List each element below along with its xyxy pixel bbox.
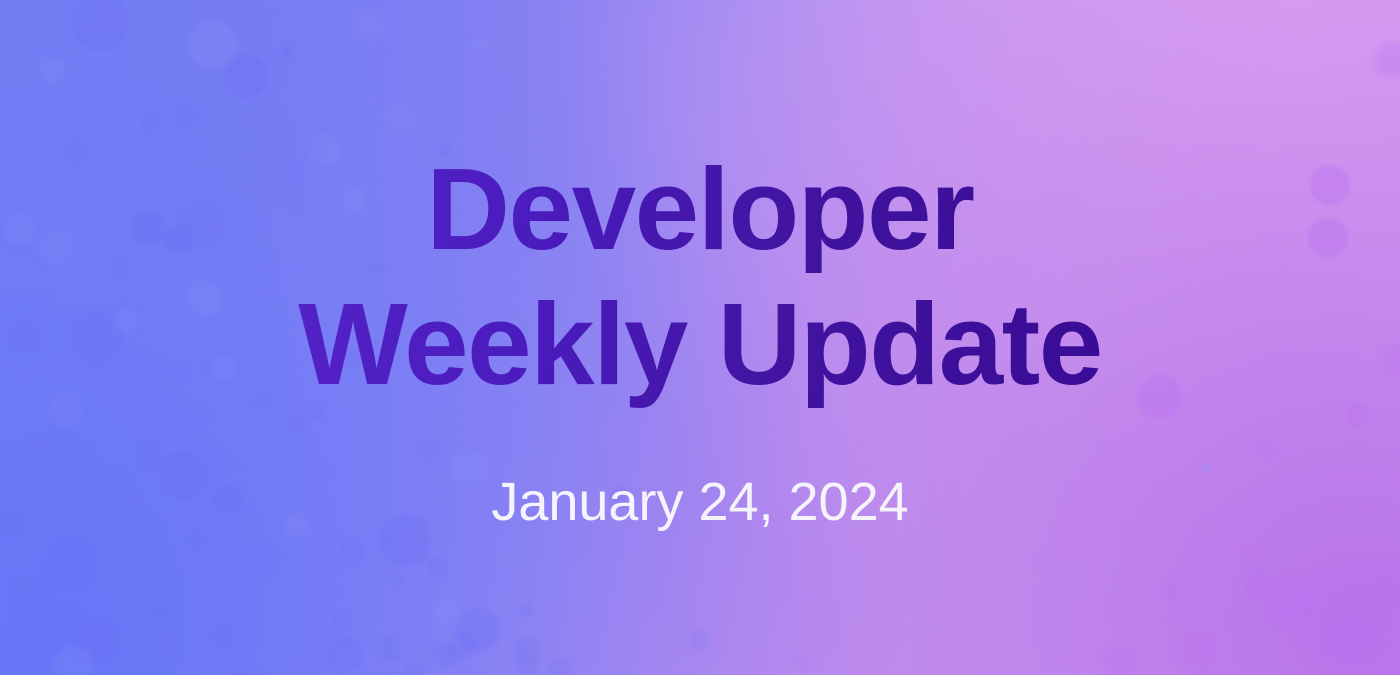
page-title: Developer Weekly Update — [298, 142, 1102, 417]
title-slide: Developer Weekly Update January 24, 2024 — [0, 0, 1400, 675]
slide-content: Developer Weekly Update January 24, 2024 — [0, 0, 1400, 675]
slide-date: January 24, 2024 — [491, 471, 908, 533]
title-line-2: Weekly Update — [298, 277, 1102, 412]
title-line-1: Developer — [298, 142, 1102, 277]
